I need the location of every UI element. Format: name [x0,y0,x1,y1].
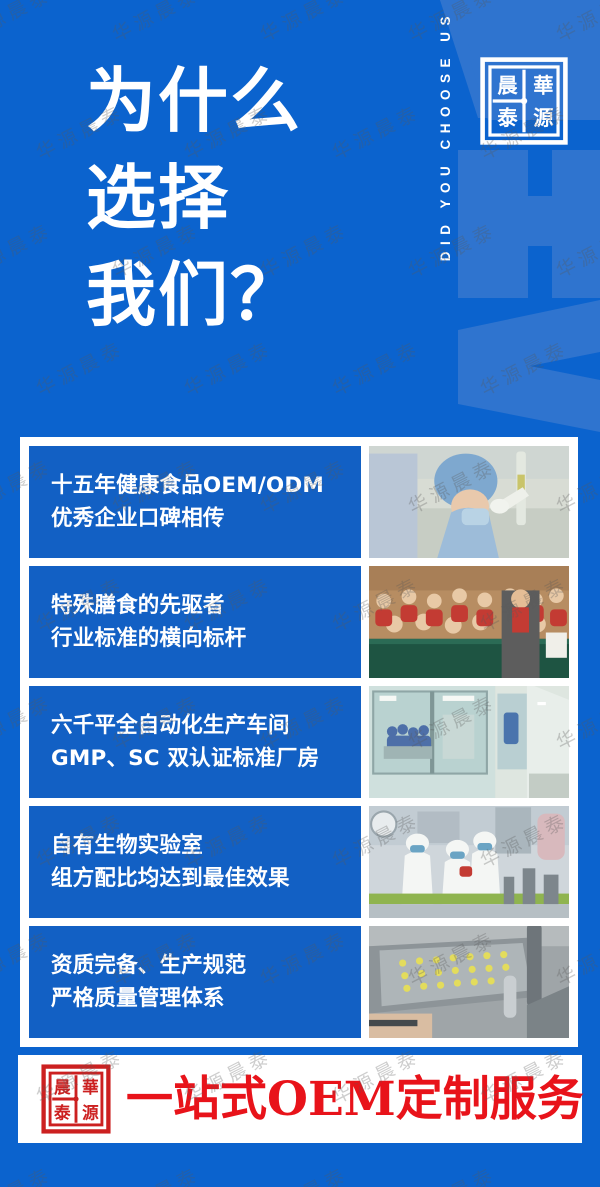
banner-slogan: 一站式OEM定制服务 [126,1076,584,1123]
watermark-text: 华源晨泰 [0,1160,57,1187]
bottom-banner: 華 源 晨 泰 一站式OEM定制服务 [18,1055,582,1143]
svg-text:華: 華 [533,74,553,98]
svg-text:泰: 泰 [496,106,518,130]
feature-row: 自有生物实验室 组方配比均达到最佳效果 [29,806,569,918]
feature-1-line-1: 十五年健康食品OEM/ODM [51,469,361,502]
feature-2-line-1: 特殊膳食的先驱者 [51,589,361,622]
feature-row: 资质完备、生产规范 严格质量管理体系 [29,926,569,1038]
feature-3-line-1: 六千平全自动化生产车间 [51,709,361,742]
feature-card-5[interactable]: 资质完备、生产规范 严格质量管理体系 [29,926,361,1038]
svg-text:晨: 晨 [54,1077,71,1097]
svg-text:源: 源 [533,106,554,130]
feature-4-line-1: 自有生物实验室 [51,829,361,862]
feature-row: 特殊膳食的先驱者 行业标准的横向标杆 [29,566,569,678]
poster-root: 为什么 选择 我们？ DID YOU CHOOSE US 華 源 晨 泰 [0,0,600,1187]
brand-seal-icon: 華 源 晨 泰 [478,55,570,147]
feature-4-line-2: 组方配比均达到最佳效果 [51,862,361,895]
feature-card-4[interactable]: 自有生物实验室 组方配比均达到最佳效果 [29,806,361,918]
poster-header: 为什么 选择 我们？ DID YOU CHOOSE US 華 源 晨 泰 [0,0,600,432]
feature-card-1[interactable]: 十五年健康食品OEM/ODM 优秀企业口碑相传 [29,446,361,558]
watermark-text: 华源晨泰 [551,1160,600,1187]
feature-1-line-2: 优秀企业口碑相传 [51,502,361,535]
svg-text:華: 華 [82,1077,99,1097]
features-panel: 十五年健康食品OEM/ODM 优秀企业口碑相传 [20,437,578,1047]
watermark-text: 华源晨泰 [255,1160,353,1187]
headline-line-2: 选择 [86,149,386,246]
watermark-text: 华源晨泰 [403,1160,501,1187]
feature-photo-5 [369,926,569,1038]
vertical-tagline-text: DID YOU CHOOSE US [438,10,453,261]
svg-text:晨: 晨 [497,74,518,98]
svg-text:泰: 泰 [54,1102,71,1122]
feature-photo-1 [369,446,569,558]
feature-card-3[interactable]: 六千平全自动化生产车间 GMP、SC 双认证标准厂房 [29,686,361,798]
feature-5-line-2: 严格质量管理体系 [51,982,361,1015]
headline-line-3: 我们？ [86,246,386,343]
feature-5-line-1: 资质完备、生产规范 [51,949,361,982]
feature-photo-3 [369,686,569,798]
svg-text:源: 源 [82,1102,99,1122]
brand-seal-red-icon: 華 源 晨 泰 [40,1063,112,1135]
vertical-tagline: DID YOU CHOOSE US [432,10,458,400]
watermark-text: 华源晨泰 [107,1160,205,1187]
feature-row: 十五年健康食品OEM/ODM 优秀企业口碑相传 [29,446,569,558]
feature-2-line-2: 行业标准的横向标杆 [51,622,361,655]
feature-row: 六千平全自动化生产车间 GMP、SC 双认证标准厂房 [29,686,569,798]
page-title: 为什么 选择 我们？ [86,52,386,343]
feature-photo-2 [369,566,569,678]
feature-photo-4 [369,806,569,918]
feature-card-2[interactable]: 特殊膳食的先驱者 行业标准的横向标杆 [29,566,361,678]
headline-line-1: 为什么 [86,52,386,149]
feature-3-line-2: GMP、SC 双认证标准厂房 [51,742,361,775]
